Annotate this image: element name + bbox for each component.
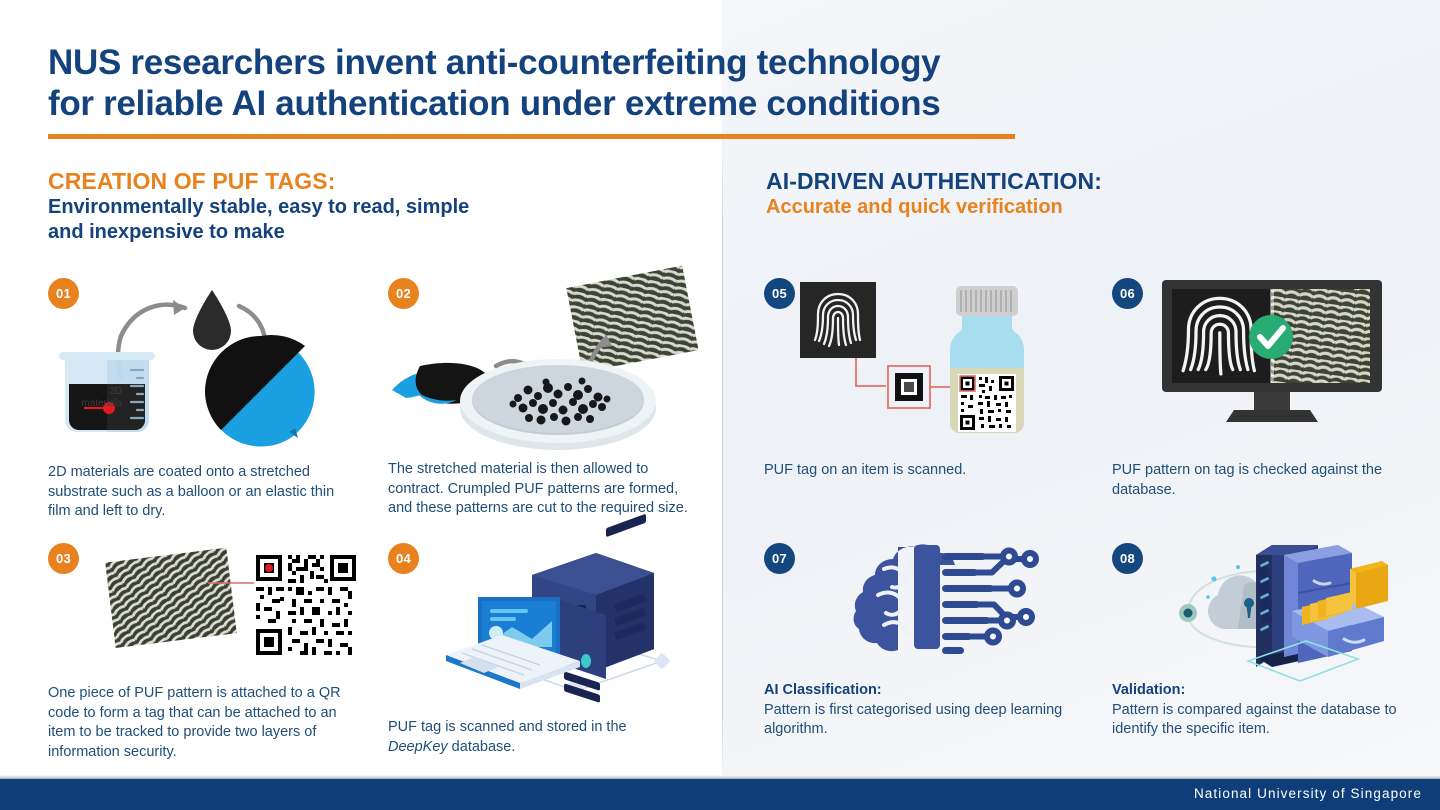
step-caption-04-pre: PUF tag is scanned and stored in the xyxy=(388,719,627,735)
step-caption-08-body: Pattern is compared against the database… xyxy=(1112,702,1397,738)
section-kicker-left: CREATION OF PUF TAGS: xyxy=(48,168,668,195)
step-caption-01: 2D materials are coated onto a stretched… xyxy=(48,463,338,522)
step-badge-07: 07 xyxy=(764,543,795,574)
infographic-poster: NUS researchers invent anti-counterfeiti… xyxy=(0,0,1440,810)
step-caption-08: Validation:Pattern is compared against t… xyxy=(1112,681,1422,740)
petri-dish-puf-film-icon xyxy=(386,270,706,455)
server-laptop-icon xyxy=(428,543,698,693)
monitor-fingerprint-match-icon xyxy=(1160,280,1390,430)
fingerprint-bottle-qr-icon xyxy=(800,282,1050,447)
step-04: 04 xyxy=(388,543,708,773)
step-caption-08-label: Validation: xyxy=(1112,682,1185,698)
step-badge-03: 03 xyxy=(48,543,79,574)
section-subtitle-left-line-1: Environmentally stable, easy to read, si… xyxy=(48,195,668,220)
step-caption-07-label: AI Classification: xyxy=(764,682,882,698)
step-07: 07 xyxy=(764,543,1094,773)
title-underline-rule xyxy=(48,134,1015,139)
step-badge-05: 05 xyxy=(764,278,795,309)
step-02: 02 xyxy=(388,278,708,518)
step-01: 01 xyxy=(48,278,348,518)
beaker-annotation-line-1: 2D xyxy=(109,386,122,397)
step-caption-06: PUF pattern on tag is checked against th… xyxy=(1112,461,1412,500)
beaker-annotation-line-2: materials xyxy=(81,398,122,409)
page-title: NUS researchers invent anti-counterfeiti… xyxy=(48,42,1108,124)
beaker-annotation: 2D materials xyxy=(40,386,122,410)
footer-organisation-name: National University of Singapore xyxy=(1194,786,1422,801)
step-caption-02: The stretched material is then allowed t… xyxy=(388,460,700,519)
step-08: 08 xyxy=(1112,543,1440,773)
step-06: 06 xyxy=(1112,278,1432,508)
step-05: 05 xyxy=(764,278,1084,508)
step-caption-04-post: database. xyxy=(448,739,516,755)
panel-divider xyxy=(722,146,723,775)
step-caption-07-body: Pattern is first categorised using deep … xyxy=(764,702,1062,738)
step-caption-03: One piece of PUF pattern is attached to … xyxy=(48,684,348,762)
section-heading-authentication: AI-DRIVEN AUTHENTICATION: Accurate and q… xyxy=(766,168,1386,220)
section-subtitle-right-line-1: Accurate and quick verification xyxy=(766,195,1386,220)
step-caption-04-italic: DeepKey xyxy=(388,739,448,755)
page-title-line-2: for reliable AI authentication under ext… xyxy=(48,83,1108,124)
puf-patch-qr-code-icon xyxy=(88,543,368,668)
section-kicker-right: AI-DRIVEN AUTHENTICATION: xyxy=(766,168,1386,195)
section-heading-creation: CREATION OF PUF TAGS: Environmentally st… xyxy=(48,168,668,245)
step-badge-04: 04 xyxy=(388,543,419,574)
page-title-line-1: NUS researchers invent anti-counterfeiti… xyxy=(48,42,1108,83)
step-badge-08: 08 xyxy=(1112,543,1143,574)
beaker-droplet-balloon-icon xyxy=(43,286,343,466)
step-caption-04: PUF tag is scanned and stored in the Dee… xyxy=(388,718,688,757)
step-caption-05: PUF tag on an item is scanned. xyxy=(764,461,1064,481)
step-03: 03 xyxy=(48,543,368,773)
step-badge-06: 06 xyxy=(1112,278,1143,309)
cloud-database-cabinet-icon xyxy=(1152,541,1402,681)
section-subtitle-left-line-2: and inexpensive to make xyxy=(48,220,668,245)
step-caption-07: AI Classification:Pattern is first categ… xyxy=(764,681,1074,740)
ai-brain-circuit-icon xyxy=(844,543,1064,668)
